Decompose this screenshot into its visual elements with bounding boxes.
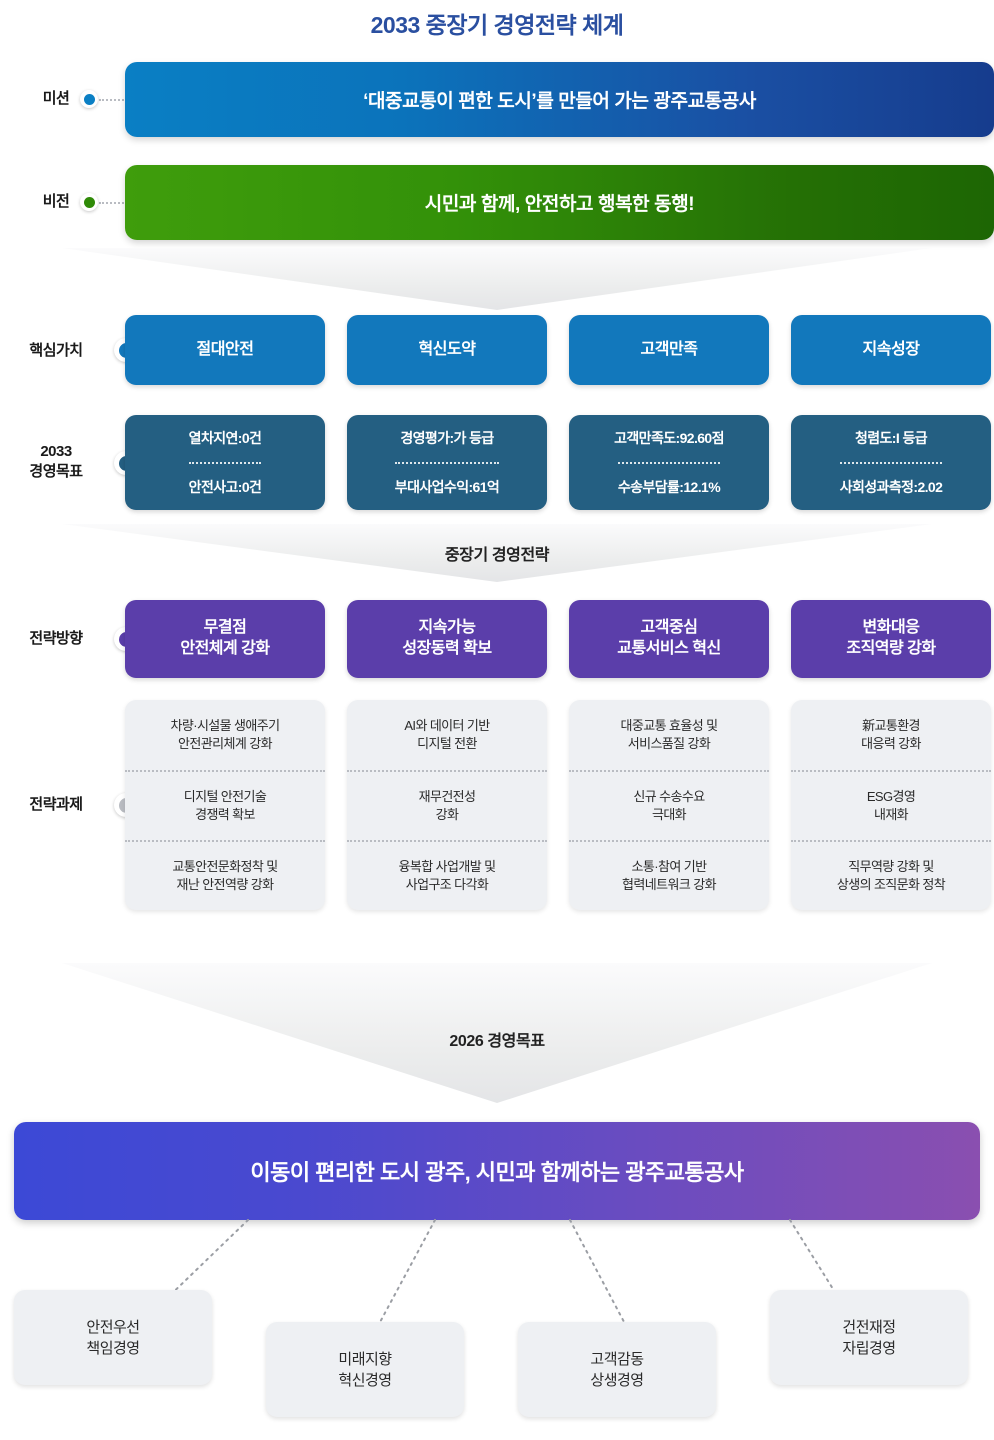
goal-card[interactable]: 청렴도:I 등급 사회성과측정:2.02 (791, 415, 991, 510)
strategy-task-item[interactable]: 직무역량 강화 및상생의 조직문화 정착 (791, 840, 991, 910)
goal-line: 안전사고:0건 (189, 462, 262, 511)
mission-text: ‘대중교통이 편한 도시’를 만들어 가는 광주교통공사 (363, 86, 756, 113)
core-value-label: 고객만족 (641, 340, 698, 361)
strategy-band-label: 중장기 경영전략 (0, 541, 994, 565)
goal-line: 사회성과측정:2.02 (840, 462, 943, 511)
core-value-label: 혁신도약 (419, 340, 476, 361)
strategy-task-item[interactable]: 교통안전문화정착 및재난 안전역량 강화 (125, 840, 325, 910)
final-banner: 이동이 편리한 도시 광주, 시민과 함께하는 광주교통공사 (14, 1122, 980, 1220)
chip-line: 상생경영 (590, 1372, 643, 1389)
strategy-task-item[interactable]: AI와 데이터 기반디지털 전환 (347, 700, 547, 770)
chip-line: 건전재정 (842, 1319, 895, 1336)
mission-banner: ‘대중교통이 편한 도시’를 만들어 가는 광주교통공사 (125, 62, 994, 137)
goal-line: 수송부담률:12.1% (618, 462, 720, 511)
core-value-label: 지속성장 (863, 340, 920, 361)
chip-line: 책임경영 (86, 1340, 139, 1357)
bottom-goal-chip[interactable]: 미래지향혁신경영 (266, 1322, 464, 1417)
chip-line: 미래지향 (338, 1351, 391, 1368)
strategy-task-item[interactable]: ESG경영내재화 (791, 770, 991, 840)
chevron-band-top (62, 248, 932, 310)
vision-text: 시민과 함께, 안전하고 행복한 동행! (425, 189, 694, 216)
core-value-card[interactable]: 지속성장 (791, 315, 991, 385)
strategy-direction-line: 성장동력 확보 (402, 640, 491, 657)
mission-connector-line (99, 99, 127, 101)
strategy-task-item[interactable]: 新교통환경대응력 강화 (791, 700, 991, 770)
strategy-direction-card[interactable]: 변화대응조직역량 강화 (791, 600, 991, 678)
strategy-task-item[interactable]: 융복합 사업개발 및사업구조 다각화 (347, 840, 547, 910)
goal-card[interactable]: 경영평가:가 등급 부대사업수익:61억 (347, 415, 547, 510)
goals-2033-rail-label-text: 경영목표 (29, 463, 82, 480)
strategy-task-column[interactable]: 차량·시설물 생애주기안전관리체계 강화 디지털 안전기술경쟁력 확보 교통안전… (125, 700, 325, 910)
strategy-direction-line: 무결점 (204, 619, 247, 636)
chip-line: 혁신경영 (338, 1372, 391, 1389)
strategy-direction-line: 조직역량 강화 (846, 640, 935, 657)
goal-line: 부대사업수익:61억 (395, 462, 499, 511)
goal-line: 열차지연:0건 (189, 415, 262, 462)
goal-card[interactable]: 열차지연:0건 안전사고:0건 (125, 415, 325, 510)
page-title: 2033 중장기 경영전략 체계 (0, 6, 994, 40)
goals-2033-rail-label-year: 2033 (40, 443, 71, 460)
strategy-direction-line: 교통서비스 혁신 (617, 640, 721, 657)
bottom-goal-chip[interactable]: 안전우선책임경영 (14, 1290, 212, 1385)
core-value-card[interactable]: 혁신도약 (347, 315, 547, 385)
strategy-task-column[interactable]: AI와 데이터 기반디지털 전환 재무건전성강화 융복합 사업개발 및사업구조 … (347, 700, 547, 910)
chip-line: 안전우선 (86, 1319, 139, 1336)
strategy-direction-card[interactable]: 지속가능성장동력 확보 (347, 600, 547, 678)
core-value-card[interactable]: 절대안전 (125, 315, 325, 385)
mission-marker-dot (80, 90, 98, 108)
chip-line: 자립경영 (842, 1340, 895, 1357)
vision-connector-line (99, 202, 127, 204)
strategy-task-item[interactable]: 디지털 안전기술경쟁력 확보 (125, 770, 325, 840)
strategy-task-item[interactable]: 소통·참여 기반협력네트워크 강화 (569, 840, 769, 910)
bottom-goal-chip[interactable]: 건전재정자립경영 (770, 1290, 968, 1385)
strategy-direction-rail-label: 전략방향 (0, 629, 112, 649)
goal-line: 경영평가:가 등급 (400, 415, 493, 462)
strategy-task-column[interactable]: 대중교통 효율성 및서비스품질 강화 신규 수송수요극대화 소통·참여 기반협력… (569, 700, 769, 910)
core-value-card[interactable]: 고객만족 (569, 315, 769, 385)
strategy-task-item[interactable]: 신규 수송수요극대화 (569, 770, 769, 840)
final-banner-text: 이동이 편리한 도시 광주, 시민과 함께하는 광주교통공사 (250, 1155, 743, 1187)
strategy-task-item[interactable]: 대중교통 효율성 및서비스품질 강화 (569, 700, 769, 770)
goals-2026-band-label: 2026 경영목표 (0, 1027, 994, 1051)
goal-line: 고객만족도:92.60점 (614, 415, 724, 462)
strategy-task-rail-label: 전략과제 (0, 795, 112, 815)
core-values-rail-label: 핵심가치 (0, 341, 112, 361)
strategy-direction-line: 변화대응 (863, 619, 920, 636)
vision-banner: 시민과 함께, 안전하고 행복한 동행! (125, 165, 994, 240)
strategy-task-item[interactable]: 재무건전성강화 (347, 770, 547, 840)
goal-card[interactable]: 고객만족도:92.60점 수송부담률:12.1% (569, 415, 769, 510)
strategy-task-column[interactable]: 新교통환경대응력 강화 ESG경영내재화 직무역량 강화 및상생의 조직문화 정… (791, 700, 991, 910)
chip-line: 고객감동 (590, 1351, 643, 1368)
strategy-direction-card[interactable]: 고객중심교통서비스 혁신 (569, 600, 769, 678)
goal-line: 청렴도:I 등급 (855, 415, 927, 462)
strategy-direction-line: 지속가능 (419, 619, 476, 636)
vision-marker-dot (80, 193, 98, 211)
strategy-task-item[interactable]: 차량·시설물 생애주기안전관리체계 강화 (125, 700, 325, 770)
bottom-goal-chip[interactable]: 고객감동상생경영 (518, 1322, 716, 1417)
core-value-label: 절대안전 (197, 340, 254, 361)
strategy-direction-line: 안전체계 강화 (180, 640, 269, 657)
strategy-direction-line: 고객중심 (641, 619, 698, 636)
strategy-direction-card[interactable]: 무결점안전체계 강화 (125, 600, 325, 678)
